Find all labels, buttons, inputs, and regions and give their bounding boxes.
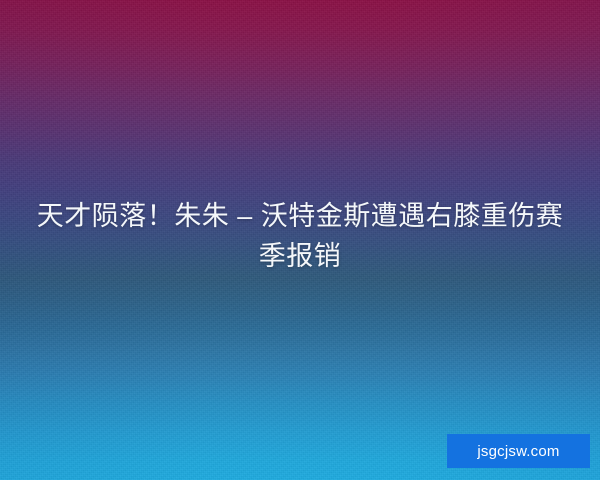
image-canvas: 天才陨落！朱朱 – 沃特金斯遭遇右膝重伤赛季报销 jsgcjsw.com	[0, 0, 600, 480]
watermark-label: jsgcjsw.com	[477, 444, 559, 459]
watermark-badge: jsgcjsw.com	[447, 434, 590, 468]
headline-text: 天才陨落！朱朱 – 沃特金斯遭遇右膝重伤赛季报销	[0, 196, 600, 276]
